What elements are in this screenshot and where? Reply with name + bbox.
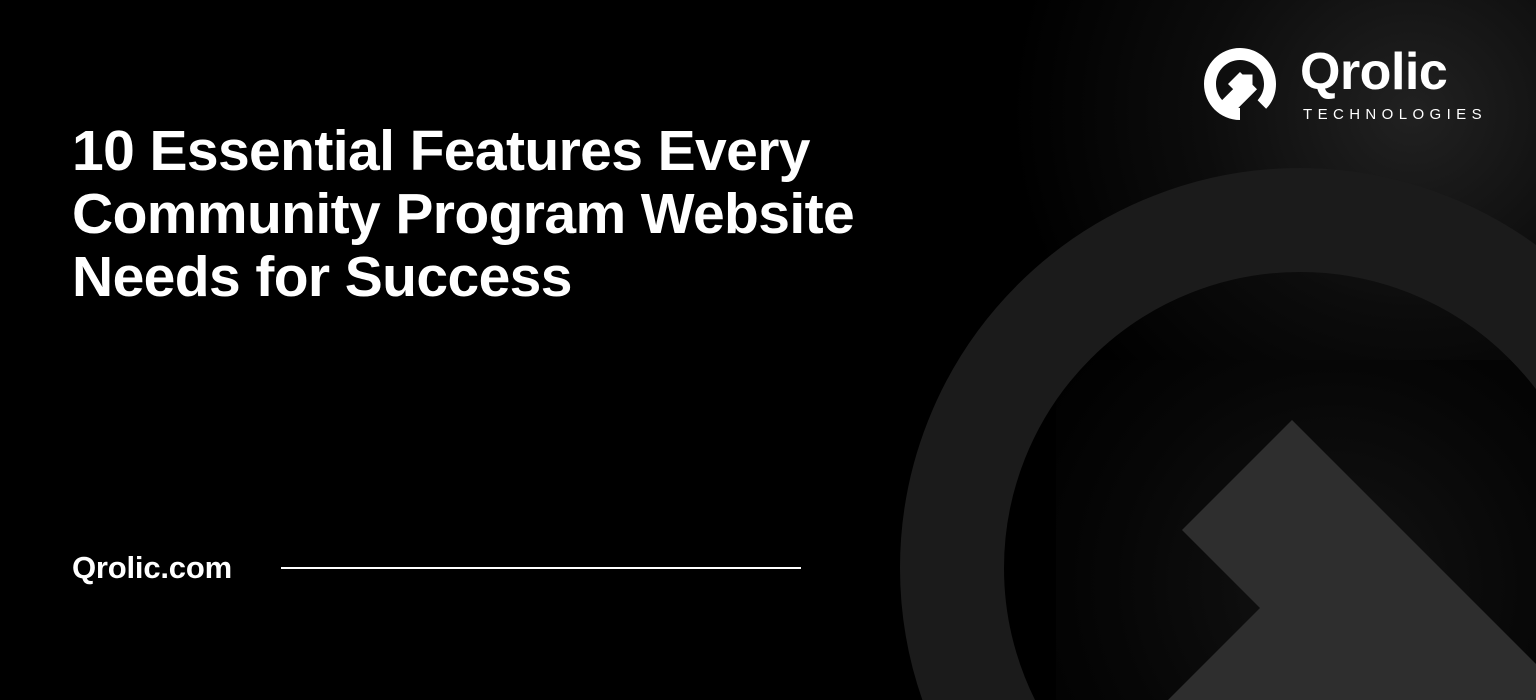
brand-name: Qrolic	[1300, 48, 1487, 97]
corner-glow-bottom-right	[1056, 360, 1536, 700]
footer-divider	[281, 567, 801, 569]
footer-website-url[interactable]: Qrolic.com	[72, 552, 232, 583]
brand-tagline: TECHNOLOGIES	[1300, 107, 1487, 122]
footer: Qrolic.com	[72, 552, 832, 583]
qrolic-q-mark-icon	[1200, 44, 1280, 124]
brand-wordmark: Qrolic TECHNOLOGIES	[1300, 46, 1487, 121]
page-title-line-2: Community Program Website	[72, 183, 1002, 246]
page-title-line-3: Needs for Success	[72, 246, 1002, 309]
blog-banner: 10 Essential Features Every Community Pr…	[0, 0, 1536, 700]
brand-logo[interactable]: Qrolic TECHNOLOGIES	[1200, 44, 1487, 124]
page-title: 10 Essential Features Every Community Pr…	[72, 120, 1002, 309]
page-title-line-1: 10 Essential Features Every	[72, 120, 1002, 183]
